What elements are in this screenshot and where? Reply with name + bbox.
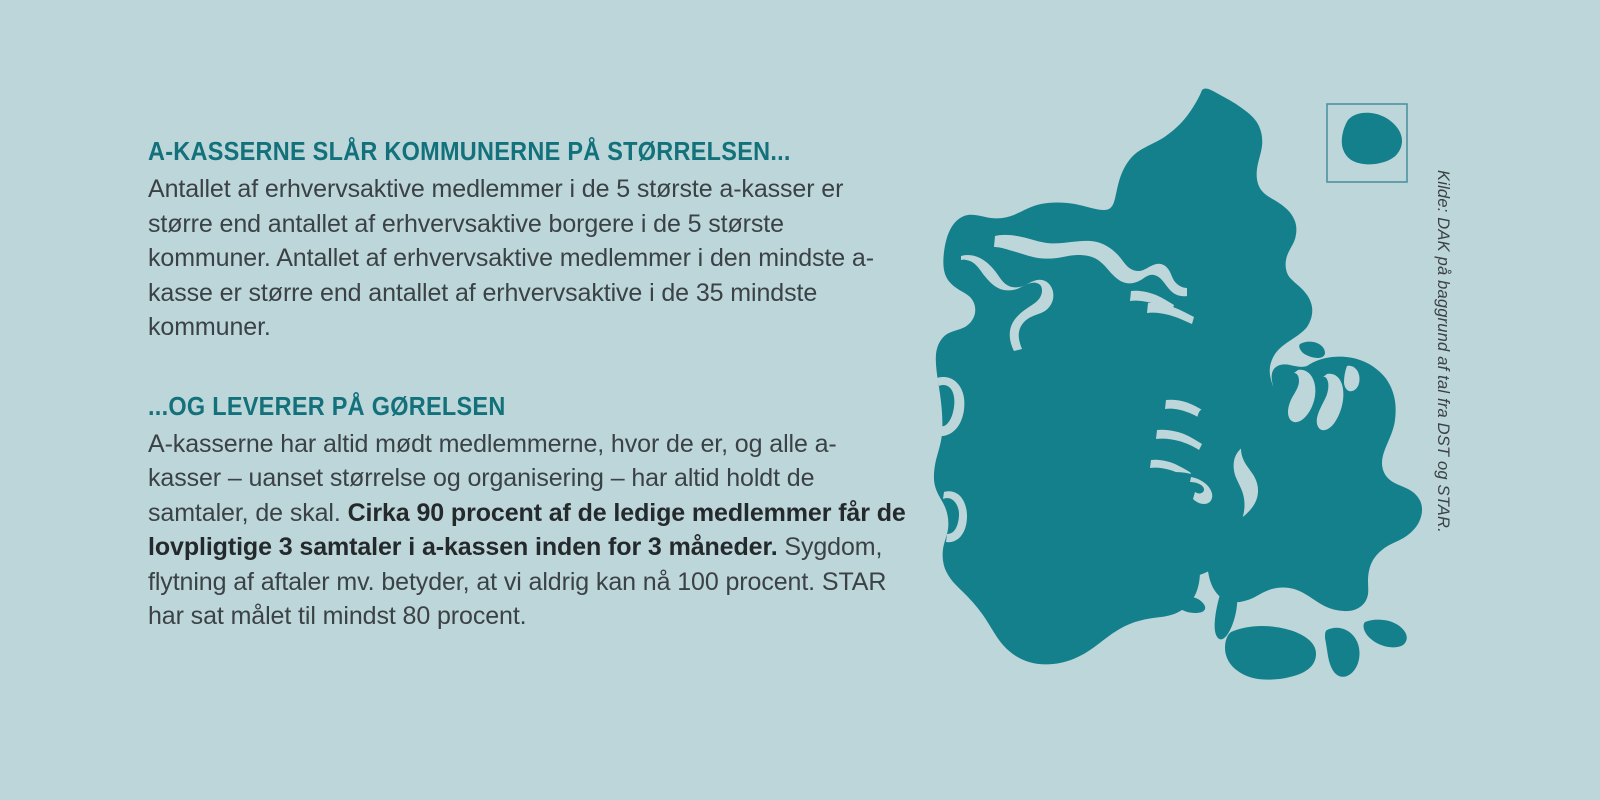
body-paragraph-size: Antallet af erhvervsaktive medlemmer i d… bbox=[148, 172, 908, 345]
denmark-map bbox=[895, 78, 1470, 708]
map-region-moen bbox=[1364, 620, 1407, 648]
infographic-canvas: A-KASSERNE SLÅR KOMMUNERNE PÅ STØRRELSEN… bbox=[0, 0, 1600, 800]
text-block-size: A-KASSERNE SLÅR KOMMUNERNE PÅ STØRRELSEN… bbox=[148, 138, 908, 345]
map-region-falster bbox=[1325, 628, 1360, 677]
body-run-plain: Antallet af erhvervsaktive medlemmer i d… bbox=[148, 175, 874, 341]
heading-og-leverer-paa-goerelsen: ...OG LEVERER PÅ GØRELSEN bbox=[148, 393, 847, 421]
map-region-lolland bbox=[1225, 626, 1316, 680]
text-column: A-KASSERNE SLÅR KOMMUNERNE PÅ STØRRELSEN… bbox=[148, 138, 908, 634]
text-block-delivery: ...OG LEVERER PÅ GØRELSEN A-kasserne har… bbox=[148, 393, 908, 634]
body-paragraph-delivery: A-kasserne har altid mødt medlemmerne, h… bbox=[148, 427, 908, 634]
map-region-anholt bbox=[1299, 342, 1325, 358]
heading-a-kasserne-slaar-kommunerne: A-KASSERNE SLÅR KOMMUNERNE PÅ STØRRELSEN… bbox=[148, 138, 847, 166]
map-region-bornholm bbox=[1342, 113, 1402, 165]
